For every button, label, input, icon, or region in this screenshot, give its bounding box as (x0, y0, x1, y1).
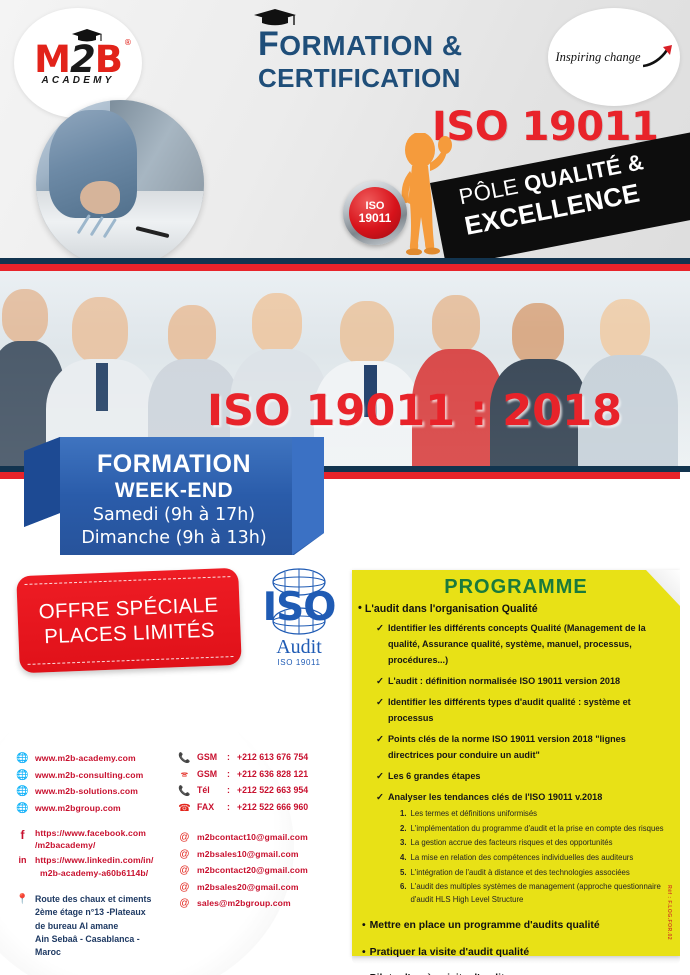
header-title-line1: FORMATION & (258, 27, 463, 61)
email-row[interactable]: @ m2bcontact10@gmail.com (178, 831, 346, 845)
at-sign-icon: @ (178, 831, 191, 845)
at-sign-icon: @ (178, 864, 191, 878)
address-row: 📍 Route des chaux et ciments 2ème étage … (16, 893, 176, 960)
facebook-row[interactable]: f https://www.facebook.com /m2bacademy/ (16, 827, 176, 851)
at-sign-icon: @ (178, 897, 191, 911)
email-row[interactable]: @ m2bsales20@gmail.com (178, 881, 346, 895)
phone-icon: 📞 (178, 785, 191, 799)
programme-check-item: ✓ Analyser les tendances clés de l'ISO 1… (376, 790, 674, 806)
checkmark-icon: ✓ (376, 621, 384, 637)
programme-final-bullet: • Pratiquer la visite d'audit qualité (358, 946, 674, 960)
programme-numbered-item: 3. La gestion accrue des facteurs risque… (400, 837, 674, 850)
registered-mark-icon: ® (124, 39, 131, 47)
divider-red-top (0, 264, 690, 271)
m2b-logo-b: B (95, 38, 122, 81)
programme-check-item: ✓ Points clés de la norme ISO 19011 vers… (376, 732, 674, 764)
phone-row[interactable]: 📞 Tél : +212 522 663 954 (178, 785, 346, 799)
iso-logo-sub: ISO 19011 (249, 658, 349, 667)
page-title: ISO 19011 : 2018 (207, 386, 622, 436)
contact-web-column: 🌐 www.m2b-academy.com 🌐 www.m2b-consulti… (16, 752, 176, 963)
website-row[interactable]: 🌐 www.m2b-solutions.com (16, 785, 176, 799)
email-row[interactable]: @ sales@m2bgroup.com (178, 897, 346, 911)
contact-section: 🌐 www.m2b-academy.com 🌐 www.m2b-consulti… (0, 740, 352, 975)
programme-check-item: ✓ Les 6 grandes étapes (376, 769, 674, 785)
special-offer-badge: OFFRE SPÉCIALE PLACES LIMITÉS (16, 568, 242, 673)
right-margin (680, 472, 690, 975)
iso-19011-badge: ISO 19011 (343, 181, 407, 245)
at-sign-icon: @ (178, 881, 191, 895)
website-row[interactable]: 🌐 www.m2b-academy.com (16, 752, 176, 766)
whatsapp-icon: 🕿 (178, 769, 191, 783)
website-row[interactable]: 🌐 www.m2b-consulting.com (16, 769, 176, 783)
programme-numbered-item: 5. L'intégration de l'audit à distance e… (400, 867, 674, 880)
ribbon-line1: FORMATION (24, 450, 324, 478)
linkedin-icon: in (16, 854, 29, 866)
checkmark-icon: ✓ (376, 674, 384, 690)
graduation-cap-icon (254, 9, 296, 27)
programme-final-bullet: • Mettre en place un programme d'audits … (358, 919, 674, 933)
training-flyer-poster: M2B ® ACADEMY Inspiring change FORMATION… (0, 0, 690, 975)
programme-numbered-item: 1. Les termes et définitions uniformisés (400, 808, 674, 821)
header-title-group: FORMATION & CERTIFICATION (258, 27, 463, 91)
globe-icon: 🌐 (16, 769, 29, 783)
website-row[interactable]: 🌐 www.m2bgroup.com (16, 802, 176, 816)
standard-title: ISO 19011 (432, 104, 658, 150)
m2b-logo-m: M (34, 38, 70, 81)
bullet-dot-icon: • (362, 919, 366, 933)
globe-icon: 🌐 (16, 802, 29, 816)
checkmark-icon: ✓ (376, 695, 384, 711)
programme-panel: PROGRAMME • L'audit dans l'organisation … (352, 570, 680, 956)
photo-hand (80, 181, 120, 215)
email-row[interactable]: @ m2bcontact20@gmail.com (178, 864, 346, 878)
address-group: 📍 Route des chaux et ciments 2ème étage … (16, 893, 176, 960)
email-row[interactable]: @ m2bsales10@gmail.com (178, 848, 346, 862)
offer-dash-top (25, 576, 231, 585)
checkmark-icon: ✓ (376, 732, 384, 748)
m2b-logo-2: 2 (70, 38, 95, 81)
globe-icon: 🌐 (16, 785, 29, 799)
iso-badge-line2: 19011 (359, 212, 392, 225)
ribbon-line3: Samedi (9h à 17h) (24, 504, 324, 527)
programme-check-item: ✓ L'audit : définition normalisée ISO 19… (376, 674, 674, 690)
rising-arrow-icon (643, 45, 673, 69)
programme-numbered-item: 2. L'implémentation du programme d'audit… (400, 823, 674, 836)
fax-row[interactable]: ☎ FAX : +212 522 666 960 (178, 802, 346, 816)
checkmark-icon: ✓ (376, 790, 384, 806)
ribbon-text-group: FORMATION WEEK-END Samedi (9h à 17h) Dim… (24, 450, 324, 550)
m2b-logo-wordmark: M2B ® (34, 41, 122, 78)
programme-title: PROGRAMME (352, 570, 680, 599)
offer-line2: PLACES LIMITÉS (44, 617, 215, 649)
programme-numbered-item: 6. L'audit des multiples systèmes de man… (400, 881, 674, 906)
at-sign-icon: @ (178, 848, 191, 862)
programme-content: • L'audit dans l'organisation Qualité ✓ … (352, 602, 680, 975)
phone-row[interactable]: 📞 GSM : +212 613 676 754 (178, 752, 346, 766)
programme-check-item: ✓ Identifier les différents types d'audi… (376, 695, 674, 727)
document-reference-code: Réf : F.LOG.FOR.02 (666, 885, 672, 940)
iso-logo-audit: Audit (249, 636, 349, 658)
whatsapp-row[interactable]: 🕿 GSM : +212 636 828 121 (178, 769, 346, 783)
facebook-icon: f (16, 827, 29, 843)
iso-logo-word: ISO (249, 590, 349, 625)
bullet-dot-icon: • (362, 946, 366, 960)
ribbon-line4: Dimanche (9h à 13h) (24, 527, 324, 550)
programme-main-bullet: • L'audit dans l'organisation Qualité (358, 602, 674, 616)
globe-icon: 🌐 (16, 752, 29, 766)
header-photo-consulting (36, 100, 204, 268)
contact-phone-column: 📞 GSM : +212 613 676 754 🕿 GSM : +212 63… (178, 752, 346, 914)
programme-numbered-item: 4. La mise en relation des compétences i… (400, 852, 674, 865)
bullet-dot-icon: • (358, 602, 362, 616)
location-pin-icon: 📍 (16, 893, 29, 907)
iso-audit-logo: ISO Audit ISO 19011 (249, 570, 349, 674)
header-title-line2: CERTIFICATION (258, 65, 463, 91)
iso-badge-inner: ISO 19011 (349, 187, 401, 239)
fax-icon: ☎ (178, 802, 191, 816)
formation-weekend-ribbon: FORMATION WEEK-END Samedi (9h à 17h) Dim… (24, 437, 334, 562)
tagline-text: Inspiring change (555, 50, 640, 65)
offer-dash-bottom (28, 656, 234, 665)
checkmark-icon: ✓ (376, 769, 384, 785)
social-links-group: f https://www.facebook.com /m2bacademy/ … (16, 827, 176, 879)
ribbon-line2: WEEK-END (24, 478, 324, 504)
phone-icon: 📞 (178, 752, 191, 766)
programme-check-item: ✓ Identifier les différents concepts Qua… (376, 621, 674, 669)
email-group: @ m2bcontact10@gmail.com @ m2bsales10@gm… (178, 831, 346, 911)
inspiring-change-logo: Inspiring change (548, 8, 680, 106)
linkedin-row[interactable]: in https://www.linkedin.com/in/ m2b-acad… (16, 854, 176, 878)
